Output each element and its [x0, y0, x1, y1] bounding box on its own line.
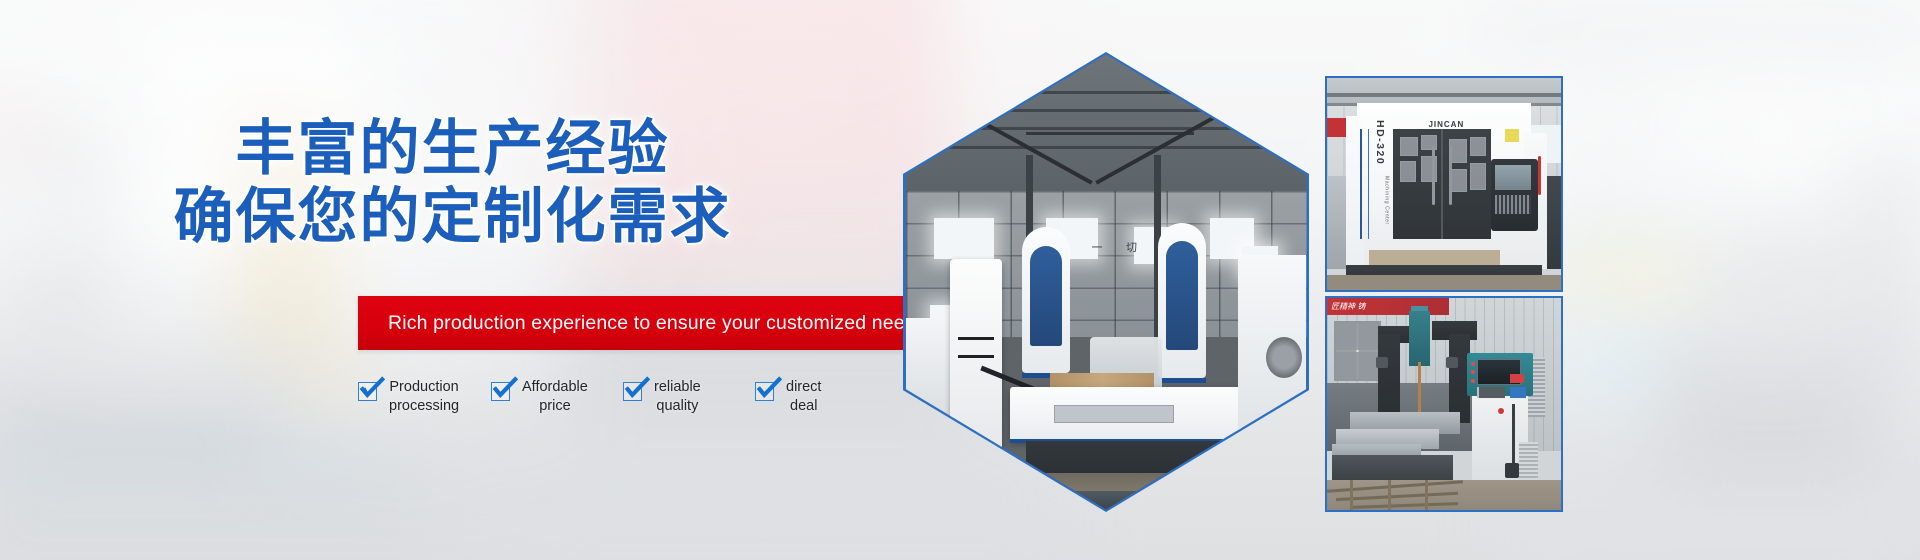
feature-label: Affordable price [522, 374, 588, 415]
feature-label-line-2: price [522, 397, 588, 416]
subheadline-ribbon: Rich production experience to ensure you… [358, 296, 904, 350]
feature-label: reliable quality [654, 374, 701, 415]
feature-label-line-2: deal [786, 397, 821, 416]
banner-headline: 丰富的生产经验 确保您的定制化需求 [0, 118, 905, 249]
check-icon [358, 380, 380, 402]
feature-list: Production processing Affordable price [358, 374, 904, 422]
feature-label-line-1: direct [786, 378, 821, 397]
feature-label: direct deal [786, 374, 821, 415]
feature-label-line-2: processing [389, 397, 459, 416]
feature-item-direct-deal[interactable]: direct deal [755, 374, 821, 422]
check-icon [491, 380, 513, 402]
feature-item-affordable-price[interactable]: Affordable price [491, 374, 588, 422]
feature-label-line-1: reliable [654, 378, 701, 397]
hexagon-photo-factory-interior: 定 一 切 [903, 52, 1309, 512]
subheadline-text: Rich production experience to ensure you… [358, 312, 926, 335]
check-icon [755, 380, 777, 402]
feature-label-line-1: Affordable [522, 378, 588, 397]
feature-label-line-2: quality [654, 397, 701, 416]
promo-banner: 丰富的生产经验 确保您的定制化需求 Rich production experi… [0, 0, 1920, 560]
side-photo-machining-center: 奋力 JINCAN HD-320 Machining Center [1325, 76, 1563, 292]
headline-line-2: 确保您的定制化需求 [0, 186, 905, 248]
side-photo-gantry-machine: 匠精神 铸 [1325, 296, 1563, 512]
feature-label: Production processing [389, 374, 459, 415]
feature-label-line-1: Production [389, 378, 459, 397]
feature-item-reliable-quality[interactable]: reliable quality [623, 374, 701, 422]
headline-line-1: 丰富的生产经验 [0, 118, 905, 180]
check-icon [623, 380, 645, 402]
feature-item-production-processing[interactable]: Production processing [358, 374, 459, 422]
